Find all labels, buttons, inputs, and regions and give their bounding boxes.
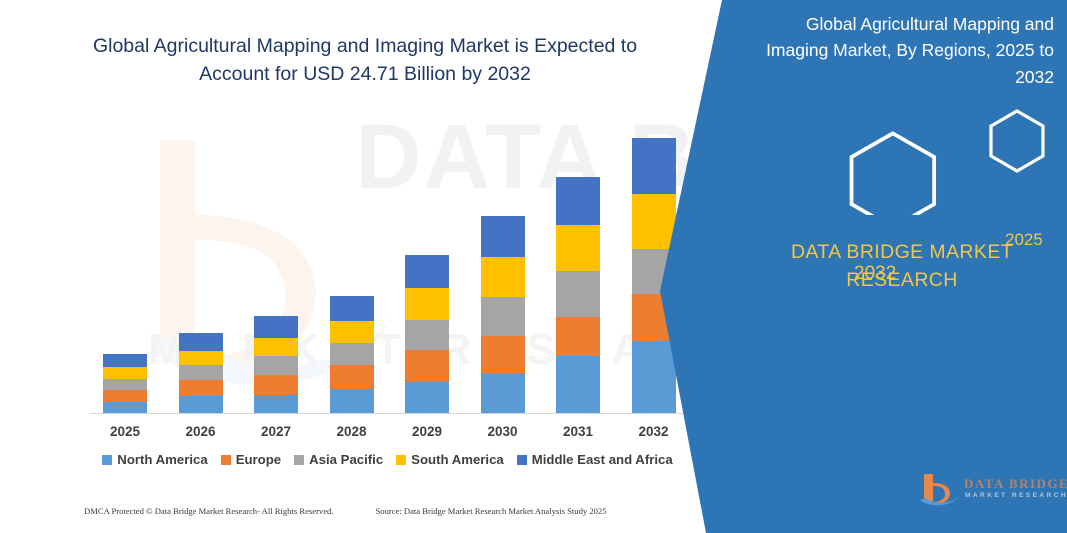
bar-segment[interactable] [330, 296, 374, 321]
hexagon-group: 2032 2025 [827, 105, 1067, 215]
bar-segment[interactable] [481, 336, 525, 374]
legend-swatch-icon [221, 455, 231, 465]
bar-segment[interactable] [254, 356, 298, 375]
legend-label: Middle East and Africa [532, 452, 673, 467]
x-axis-label-2026: 2026 [166, 424, 236, 439]
x-axis-label-2028: 2028 [317, 424, 387, 439]
hexagon-icons [827, 105, 1067, 215]
legend-item[interactable]: Europe [221, 452, 281, 467]
footer: DMCA Protected © Data Bridge Market Rese… [84, 506, 684, 516]
bar-segment[interactable] [179, 365, 223, 380]
hexagon-2025-shape [991, 111, 1043, 171]
bar-column-2027[interactable] [254, 316, 298, 413]
bar-segment[interactable] [103, 367, 147, 379]
logo-text-primary: DATA BRIDGE [964, 476, 1067, 492]
logo-text-secondary: MARKET RESEARCH [965, 492, 1067, 499]
bar-segment[interactable] [481, 297, 525, 336]
bar-segment[interactable] [405, 350, 449, 382]
bar-segment[interactable] [405, 288, 449, 320]
bar-segment[interactable] [254, 375, 298, 395]
x-axis-label-2025: 2025 [90, 424, 160, 439]
bar-segment[interactable] [254, 338, 298, 356]
bar-segment[interactable] [632, 194, 676, 249]
x-axis-line [90, 413, 698, 414]
legend-swatch-icon [102, 455, 112, 465]
bar-column-2030[interactable] [481, 216, 525, 413]
bar-segment[interactable] [632, 249, 676, 294]
bar-column-2026[interactable] [179, 333, 223, 413]
bar-segment[interactable] [632, 294, 676, 341]
bar-segment[interactable] [556, 356, 600, 413]
legend-swatch-icon [294, 455, 304, 465]
bar-column-2028[interactable] [330, 296, 374, 413]
bar-segment[interactable] [556, 271, 600, 317]
legend-item[interactable]: South America [396, 452, 504, 467]
bar-segment[interactable] [103, 390, 147, 402]
bar-column-2032[interactable] [632, 138, 676, 413]
legend-label: Europe [236, 452, 281, 467]
legend-item[interactable]: North America [102, 452, 207, 467]
bar-segment[interactable] [254, 395, 298, 413]
bar-segment[interactable] [405, 320, 449, 350]
bar-segment[interactable] [632, 138, 676, 194]
chart-plot-area [90, 120, 690, 413]
x-axis-label-2027: 2027 [241, 424, 311, 439]
bar-segment[interactable] [103, 402, 147, 413]
legend-label: North America [117, 452, 207, 467]
bar-segment[interactable] [556, 317, 600, 356]
bar-segment[interactable] [179, 380, 223, 396]
brand-name: DATA BRIDGE MARKET RESEARCH [752, 238, 1052, 295]
bar-segment[interactable] [330, 343, 374, 365]
bar-segment[interactable] [556, 225, 600, 271]
x-axis-label-2029: 2029 [392, 424, 462, 439]
x-axis-label-2031: 2031 [543, 424, 613, 439]
legend-item[interactable]: Asia Pacific [294, 452, 383, 467]
legend-item[interactable]: Middle East and Africa [517, 452, 673, 467]
bar-segment[interactable] [330, 365, 374, 389]
footer-logo: DATA BRIDGE MARKET RESEARCH [918, 470, 1058, 516]
bar-segment[interactable] [481, 216, 525, 257]
hexagon-2032-shape [852, 133, 935, 215]
bar-segment[interactable] [254, 316, 298, 338]
bar-segment[interactable] [330, 321, 374, 343]
legend-label: South America [411, 452, 504, 467]
bar-segment[interactable] [103, 354, 147, 367]
brand-name-line1: DATA BRIDGE MARKET [791, 241, 1013, 263]
bar-segment[interactable] [632, 341, 676, 413]
bar-segment[interactable] [179, 351, 223, 365]
footer-source: Source: Data Bridge Market Research Mark… [376, 506, 607, 516]
legend-label: Asia Pacific [309, 452, 383, 467]
bar-column-2031[interactable] [556, 177, 600, 413]
bar-segment[interactable] [179, 333, 223, 351]
bar-segment[interactable] [405, 255, 449, 288]
brand-panel-content: Global Agricultural Mapping and Imaging … [737, 0, 1067, 533]
bar-segment[interactable] [103, 379, 147, 390]
x-axis-label-2032: 2032 [619, 424, 689, 439]
bar-segment[interactable] [405, 382, 449, 413]
bar-column-2025[interactable] [103, 354, 147, 413]
bar-segment[interactable] [179, 396, 223, 413]
bar-segment[interactable] [481, 374, 525, 413]
legend-swatch-icon [396, 455, 406, 465]
bar-segment[interactable] [481, 257, 525, 297]
bar-segment[interactable] [556, 177, 600, 225]
bar-segment[interactable] [330, 389, 374, 413]
x-axis-label-2030: 2030 [468, 424, 538, 439]
chart-legend: North AmericaEuropeAsia PacificSouth Ame… [95, 452, 680, 467]
bar-column-2029[interactable] [405, 255, 449, 413]
brand-name-line2: RESEARCH [846, 269, 958, 291]
legend-swatch-icon [517, 455, 527, 465]
chart-title: Global Agricultural Mapping and Imaging … [60, 32, 670, 89]
x-axis-labels: 20252026202720282029203020312032 [90, 422, 698, 446]
data-bridge-logo-icon [918, 470, 962, 510]
panel-title: Global Agricultural Mapping and Imaging … [742, 11, 1054, 90]
footer-copyright: DMCA Protected © Data Bridge Market Rese… [84, 506, 334, 516]
